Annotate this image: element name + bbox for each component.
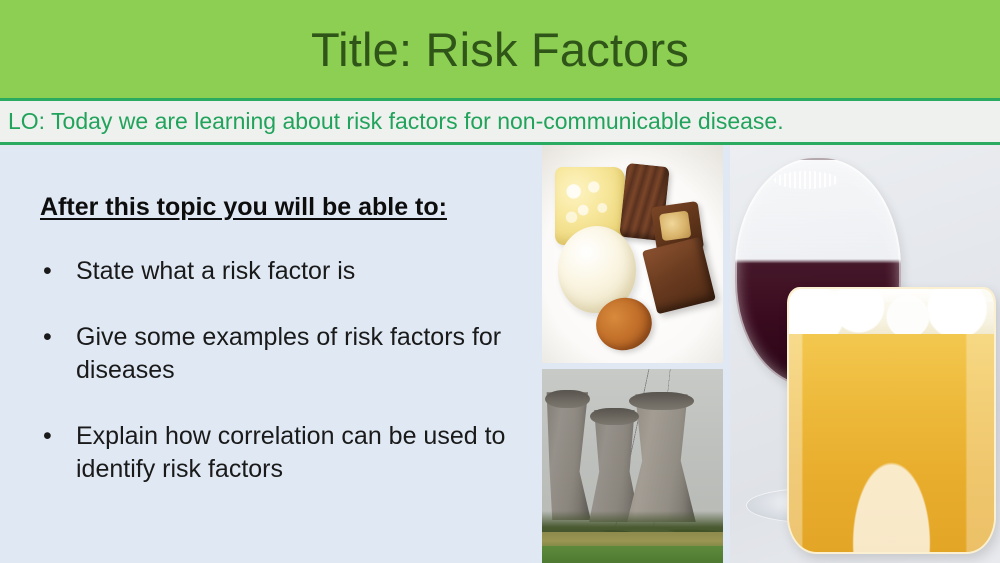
list-item-text: State what a risk factor is [76, 257, 355, 285]
list-item: • Explain how correlation can be used to… [40, 420, 540, 486]
tower-rim-right [629, 392, 694, 409]
title-bar: Title: Risk Factors [0, 0, 1000, 98]
cooling-towers-photo [542, 369, 723, 563]
learning-objective-bar: LO: Today we are learning about risk fac… [0, 101, 1000, 142]
list-item-text: Explain how correlation can be used to i… [76, 422, 505, 483]
page-title: Title: Risk Factors [311, 26, 689, 73]
slide-content: After this topic you will be able to: • … [0, 145, 1000, 563]
wine-and-beer-photo [730, 145, 1000, 563]
bullet-marker-icon: • [43, 255, 52, 288]
chocolates-and-dairy-photo [542, 145, 723, 363]
tower-rim-middle [590, 408, 639, 425]
objectives-list: • State what a risk factor is • Give som… [40, 255, 540, 519]
list-item: • State what a risk factor is [40, 255, 540, 288]
bullet-marker-icon: • [43, 321, 52, 354]
list-item: • Give some examples of risk factors for… [40, 321, 540, 387]
learning-objective-text: LO: Today we are learning about risk fac… [8, 110, 784, 133]
list-item-text: Give some examples of risk factors for d… [76, 323, 501, 384]
bullet-marker-icon: • [43, 420, 52, 453]
green-field [542, 546, 723, 563]
tower-rim-left [545, 390, 590, 407]
objectives-column: After this topic you will be able to: • … [0, 145, 540, 563]
beer-liquid [789, 331, 994, 552]
beer-mug [787, 287, 996, 554]
slide: Title: Risk Factors LO: Today we are lea… [0, 0, 1000, 563]
wine-glass-highlight [774, 171, 839, 189]
objectives-heading: After this topic you will be able to: [40, 193, 447, 222]
